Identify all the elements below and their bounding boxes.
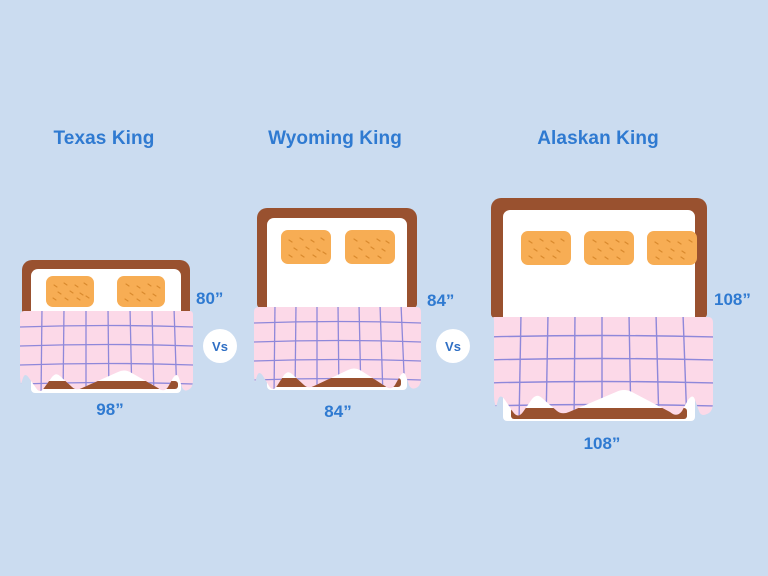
pillow: [281, 230, 331, 264]
blanket: [487, 314, 715, 424]
pillow: [345, 230, 395, 264]
vs-separator-badge: Vs: [203, 329, 237, 363]
pillow: [521, 231, 571, 265]
dimension-label-width-wyoming-king: 84”: [324, 402, 351, 422]
bed-title-alaskan-king: Alaskan King: [537, 128, 659, 150]
dimension-label-height-alaskan-king: 108”: [714, 290, 751, 310]
vs-separator-badge: Vs: [436, 329, 470, 363]
pillow: [117, 276, 165, 307]
dimension-label-width-texas-king: 98”: [96, 400, 123, 420]
vs-separator-label: Vs: [445, 339, 461, 354]
bed-illustration-texas-king: [22, 260, 190, 395]
pillow: [584, 231, 634, 265]
vs-separator-label: Vs: [212, 339, 228, 354]
bed-illustration-alaskan-king: [491, 198, 707, 428]
blanket: [254, 304, 422, 396]
infographic-canvas: Texas King Wyoming King Alaskan King: [0, 0, 768, 576]
blanket: [20, 308, 194, 398]
dimension-label-width-alaskan-king: 108”: [584, 434, 621, 454]
dimension-label-height-wyoming-king: 84”: [427, 291, 454, 311]
bed-title-texas-king: Texas King: [54, 128, 155, 150]
dimension-label-height-texas-king: 80”: [196, 289, 223, 309]
bed-illustration-wyoming-king: [257, 208, 417, 393]
bed-title-wyoming-king: Wyoming King: [268, 128, 402, 150]
pillow: [46, 276, 94, 307]
pillow: [647, 231, 697, 265]
